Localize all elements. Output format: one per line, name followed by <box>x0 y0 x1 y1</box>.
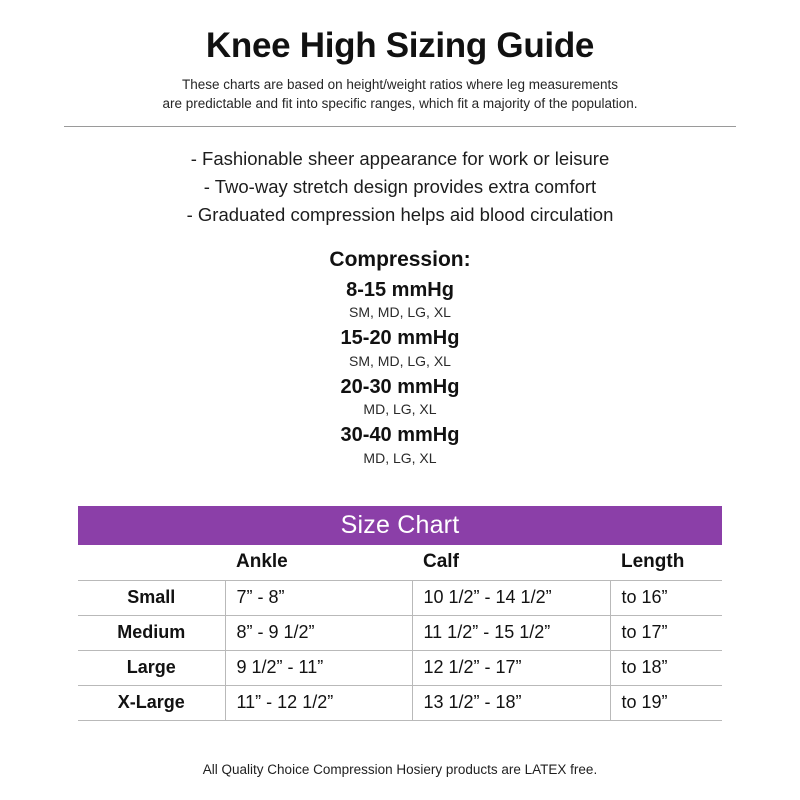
size-chart-body: Small 7” - 8” 10 1/2” - 14 1/2” to 16” M… <box>78 580 722 720</box>
cell-calf: 13 1/2” - 18” <box>412 685 610 720</box>
column-header-size <box>78 545 225 580</box>
cell-size: X-Large <box>78 685 225 720</box>
cell-size: Large <box>78 650 225 685</box>
column-header-ankle: Ankle <box>225 545 412 580</box>
cell-length: to 16” <box>610 580 722 615</box>
table-row: Large 9 1/2” - 11” 12 1/2” - 17” to 18” <box>78 650 722 685</box>
size-chart-section: Size Chart Ankle Calf Length Small 7” - … <box>78 506 722 721</box>
feature-item: - Two-way stretch design provides extra … <box>0 173 800 201</box>
feature-item: - Graduated compression helps aid blood … <box>0 201 800 229</box>
compression-sizes: SM, MD, LG, XL <box>0 352 800 372</box>
compression-level: 30-40 mmHg <box>0 423 800 449</box>
compression-sizes: SM, MD, LG, XL <box>0 303 800 323</box>
cell-length: to 17” <box>610 615 722 650</box>
cell-calf: 12 1/2” - 17” <box>412 650 610 685</box>
subtitle-line-2: are predictable and fit into specific ra… <box>90 94 710 113</box>
cell-ankle: 8” - 9 1/2” <box>225 615 412 650</box>
page-title: Knee High Sizing Guide <box>0 26 800 65</box>
cell-length: to 19” <box>610 685 722 720</box>
table-row: X-Large 11” - 12 1/2” 13 1/2” - 18” to 1… <box>78 685 722 720</box>
compression-sizes: MD, LG, XL <box>0 449 800 469</box>
compression-level: 8-15 mmHg <box>0 278 800 304</box>
cell-calf: 10 1/2” - 14 1/2” <box>412 580 610 615</box>
feature-item: - Fashionable sheer appearance for work … <box>0 145 800 173</box>
cell-size: Small <box>78 580 225 615</box>
subtitle-line-1: These charts are based on height/weight … <box>90 75 710 94</box>
table-row: Small 7” - 8” 10 1/2” - 14 1/2” to 16” <box>78 580 722 615</box>
compression-level: 20-30 mmHg <box>0 375 800 401</box>
page-subtitle: These charts are based on height/weight … <box>90 75 710 113</box>
table-row: Medium 8” - 9 1/2” 11 1/2” - 15 1/2” to … <box>78 615 722 650</box>
size-chart-banner: Size Chart <box>78 506 722 545</box>
cell-ankle: 9 1/2” - 11” <box>225 650 412 685</box>
cell-length: to 18” <box>610 650 722 685</box>
cell-ankle: 7” - 8” <box>225 580 412 615</box>
cell-size: Medium <box>78 615 225 650</box>
column-header-calf: Calf <box>412 545 610 580</box>
compression-section: Compression: 8-15 mmHg SM, MD, LG, XL 15… <box>0 248 800 469</box>
size-chart-head: Ankle Calf Length <box>78 545 722 580</box>
cell-calf: 11 1/2” - 15 1/2” <box>412 615 610 650</box>
sizing-guide-page: Knee High Sizing Guide These charts are … <box>0 0 800 800</box>
compression-heading: Compression: <box>0 248 800 272</box>
table-header-row: Ankle Calf Length <box>78 545 722 580</box>
cell-ankle: 11” - 12 1/2” <box>225 685 412 720</box>
size-chart-table: Ankle Calf Length Small 7” - 8” 10 1/2” … <box>78 545 722 721</box>
column-header-length: Length <box>610 545 722 580</box>
compression-sizes: MD, LG, XL <box>0 400 800 420</box>
feature-list: - Fashionable sheer appearance for work … <box>0 145 800 229</box>
page-header: Knee High Sizing Guide These charts are … <box>0 0 800 114</box>
header-divider <box>64 126 736 127</box>
compression-level: 15-20 mmHg <box>0 326 800 352</box>
footer-note: All Quality Choice Compression Hosiery p… <box>0 762 800 777</box>
